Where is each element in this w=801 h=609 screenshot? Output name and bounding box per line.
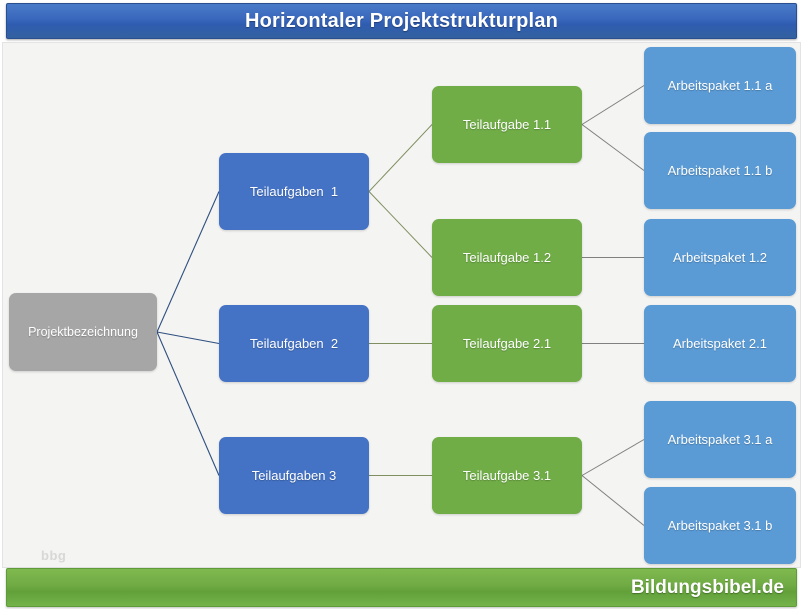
header-bar: Horizontaler Projektstrukturplan <box>6 3 797 39</box>
node-ap31a[interactable]: Arbeitspaket 3.1 a <box>644 401 796 478</box>
node-ta31[interactable]: Teilaufgabe 3.1 <box>432 437 582 514</box>
node-label: Arbeitspaket 2.1 <box>673 336 767 352</box>
connector-root-to-t1 <box>157 192 219 333</box>
connector-root-to-t3 <box>157 332 219 476</box>
node-label: Arbeitspaket 1.1 b <box>668 163 773 179</box>
node-label: Teilaufgabe 1.1 <box>463 117 551 133</box>
connector-ta11-to-ap11a <box>582 86 644 125</box>
brand-label: Bildungsbibel.de <box>631 577 796 599</box>
footer-bar: Bildungsbibel.de <box>6 568 797 607</box>
node-ap11b[interactable]: Arbeitspaket 1.1 b <box>644 132 796 209</box>
node-t3[interactable]: Teilaufgaben 3 <box>219 437 369 514</box>
project-structure-plan-page: Horizontaler Projektstrukturplan Projekt… <box>0 0 801 609</box>
node-ap21[interactable]: Arbeitspaket 2.1 <box>644 305 796 382</box>
node-label: Arbeitspaket 3.1 b <box>668 518 773 534</box>
node-t2[interactable]: Teilaufgaben 2 <box>219 305 369 382</box>
node-ap11a[interactable]: Arbeitspaket 1.1 a <box>644 47 796 124</box>
node-label: Arbeitspaket 3.1 a <box>668 432 773 448</box>
node-ta11[interactable]: Teilaufgabe 1.1 <box>432 86 582 163</box>
node-label: Teilaufgabe 3.1 <box>463 468 551 484</box>
diagram-canvas: ProjektbezeichnungTeilaufgaben 1Teilaufg… <box>2 42 801 568</box>
node-ta12[interactable]: Teilaufgabe 1.2 <box>432 219 582 296</box>
page-title: Horizontaler Projektstrukturplan <box>245 10 558 33</box>
watermark-text: bbg <box>41 548 66 563</box>
node-ap31b[interactable]: Arbeitspaket 3.1 b <box>644 487 796 564</box>
connector-t1-to-ta12 <box>369 192 432 258</box>
node-ta21[interactable]: Teilaufgabe 2.1 <box>432 305 582 382</box>
node-label: Arbeitspaket 1.1 a <box>668 78 773 94</box>
node-root[interactable]: Projektbezeichnung <box>9 293 157 371</box>
node-ap12[interactable]: Arbeitspaket 1.2 <box>644 219 796 296</box>
node-label: Teilaufgabe 1.2 <box>463 250 551 266</box>
node-label: Teilaufgabe 2.1 <box>463 336 551 352</box>
connector-ta31-to-ap31a <box>582 440 644 476</box>
connector-root-to-t2 <box>157 332 219 344</box>
node-label: Teilaufgaben 1 <box>250 184 338 200</box>
node-t1[interactable]: Teilaufgaben 1 <box>219 153 369 230</box>
node-label: Teilaufgaben 2 <box>250 336 338 352</box>
node-label: Projektbezeichnung <box>28 325 138 340</box>
node-label: Arbeitspaket 1.2 <box>673 250 767 266</box>
connector-t1-to-ta11 <box>369 125 432 192</box>
node-label: Teilaufgaben 3 <box>252 468 337 484</box>
connector-ta31-to-ap31b <box>582 476 644 526</box>
connector-ta11-to-ap11b <box>582 125 644 171</box>
